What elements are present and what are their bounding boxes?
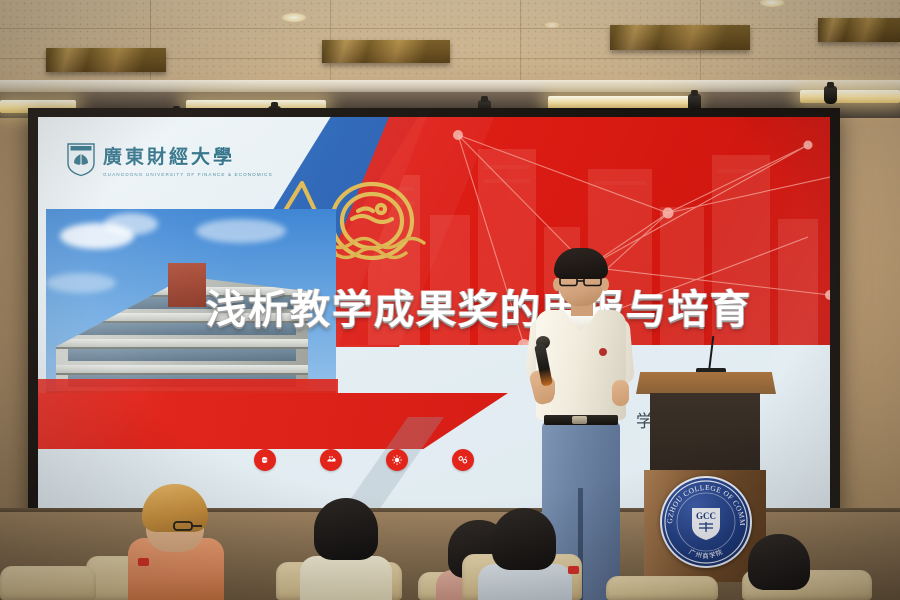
audience-member <box>478 508 572 600</box>
audience-hair <box>748 534 810 590</box>
ceiling-baffle <box>322 40 450 63</box>
audience-member <box>128 478 224 600</box>
podium-front-panel <box>650 393 760 473</box>
audience-member <box>738 534 824 600</box>
slide-red-band-upper <box>38 379 338 395</box>
podium-top <box>636 372 776 394</box>
audience-hair <box>492 508 556 570</box>
university-logo: 廣東財經大學 GUANGDONG UNIVERSITY OF FINANCE &… <box>66 141 273 177</box>
acoustic-ceiling <box>0 0 900 86</box>
slide-title: 浅析教学成果奖的申报与培育 <box>206 277 752 335</box>
ceiling-baffle <box>46 48 166 72</box>
hand-fist-icon <box>254 449 276 471</box>
network-icon <box>452 449 474 471</box>
slide-icon-row <box>254 449 474 471</box>
audience-glasses <box>158 520 204 532</box>
handshake-icon <box>320 449 342 471</box>
ceiling-downlight <box>545 22 559 28</box>
audience-member <box>300 498 392 600</box>
chair-marker <box>138 558 149 566</box>
speaker-belt-buckle <box>572 416 587 424</box>
fluorescent-light <box>800 90 900 103</box>
gear-sun-icon <box>386 449 408 471</box>
audience-chair <box>0 566 96 600</box>
svg-text:GCC: GCC <box>696 511 716 521</box>
ceiling-baffle <box>818 18 900 42</box>
university-name-en: GUANGDONG UNIVERSITY OF FINANCE & ECONOM… <box>103 172 273 177</box>
lecture-hall-photo: 廣東財經大學 GUANGDONG UNIVERSITY OF FINANCE &… <box>0 0 900 600</box>
speaker-right-hand <box>612 380 629 406</box>
stage-spotlight <box>824 86 837 104</box>
university-shield-icon <box>66 141 96 177</box>
speaker-shirt-logo <box>599 348 607 356</box>
audience-shirt <box>300 556 392 600</box>
chair-marker <box>568 566 579 574</box>
university-name-cn: 廣東財經大學 <box>103 142 273 169</box>
ceiling-downlight <box>282 13 306 22</box>
audience-chair <box>606 576 718 600</box>
svg-text:广州商学院: 广州商学院 <box>688 547 725 560</box>
audience-hair <box>314 498 378 560</box>
ceiling-baffle <box>610 25 750 50</box>
speaker-glasses <box>558 275 604 287</box>
